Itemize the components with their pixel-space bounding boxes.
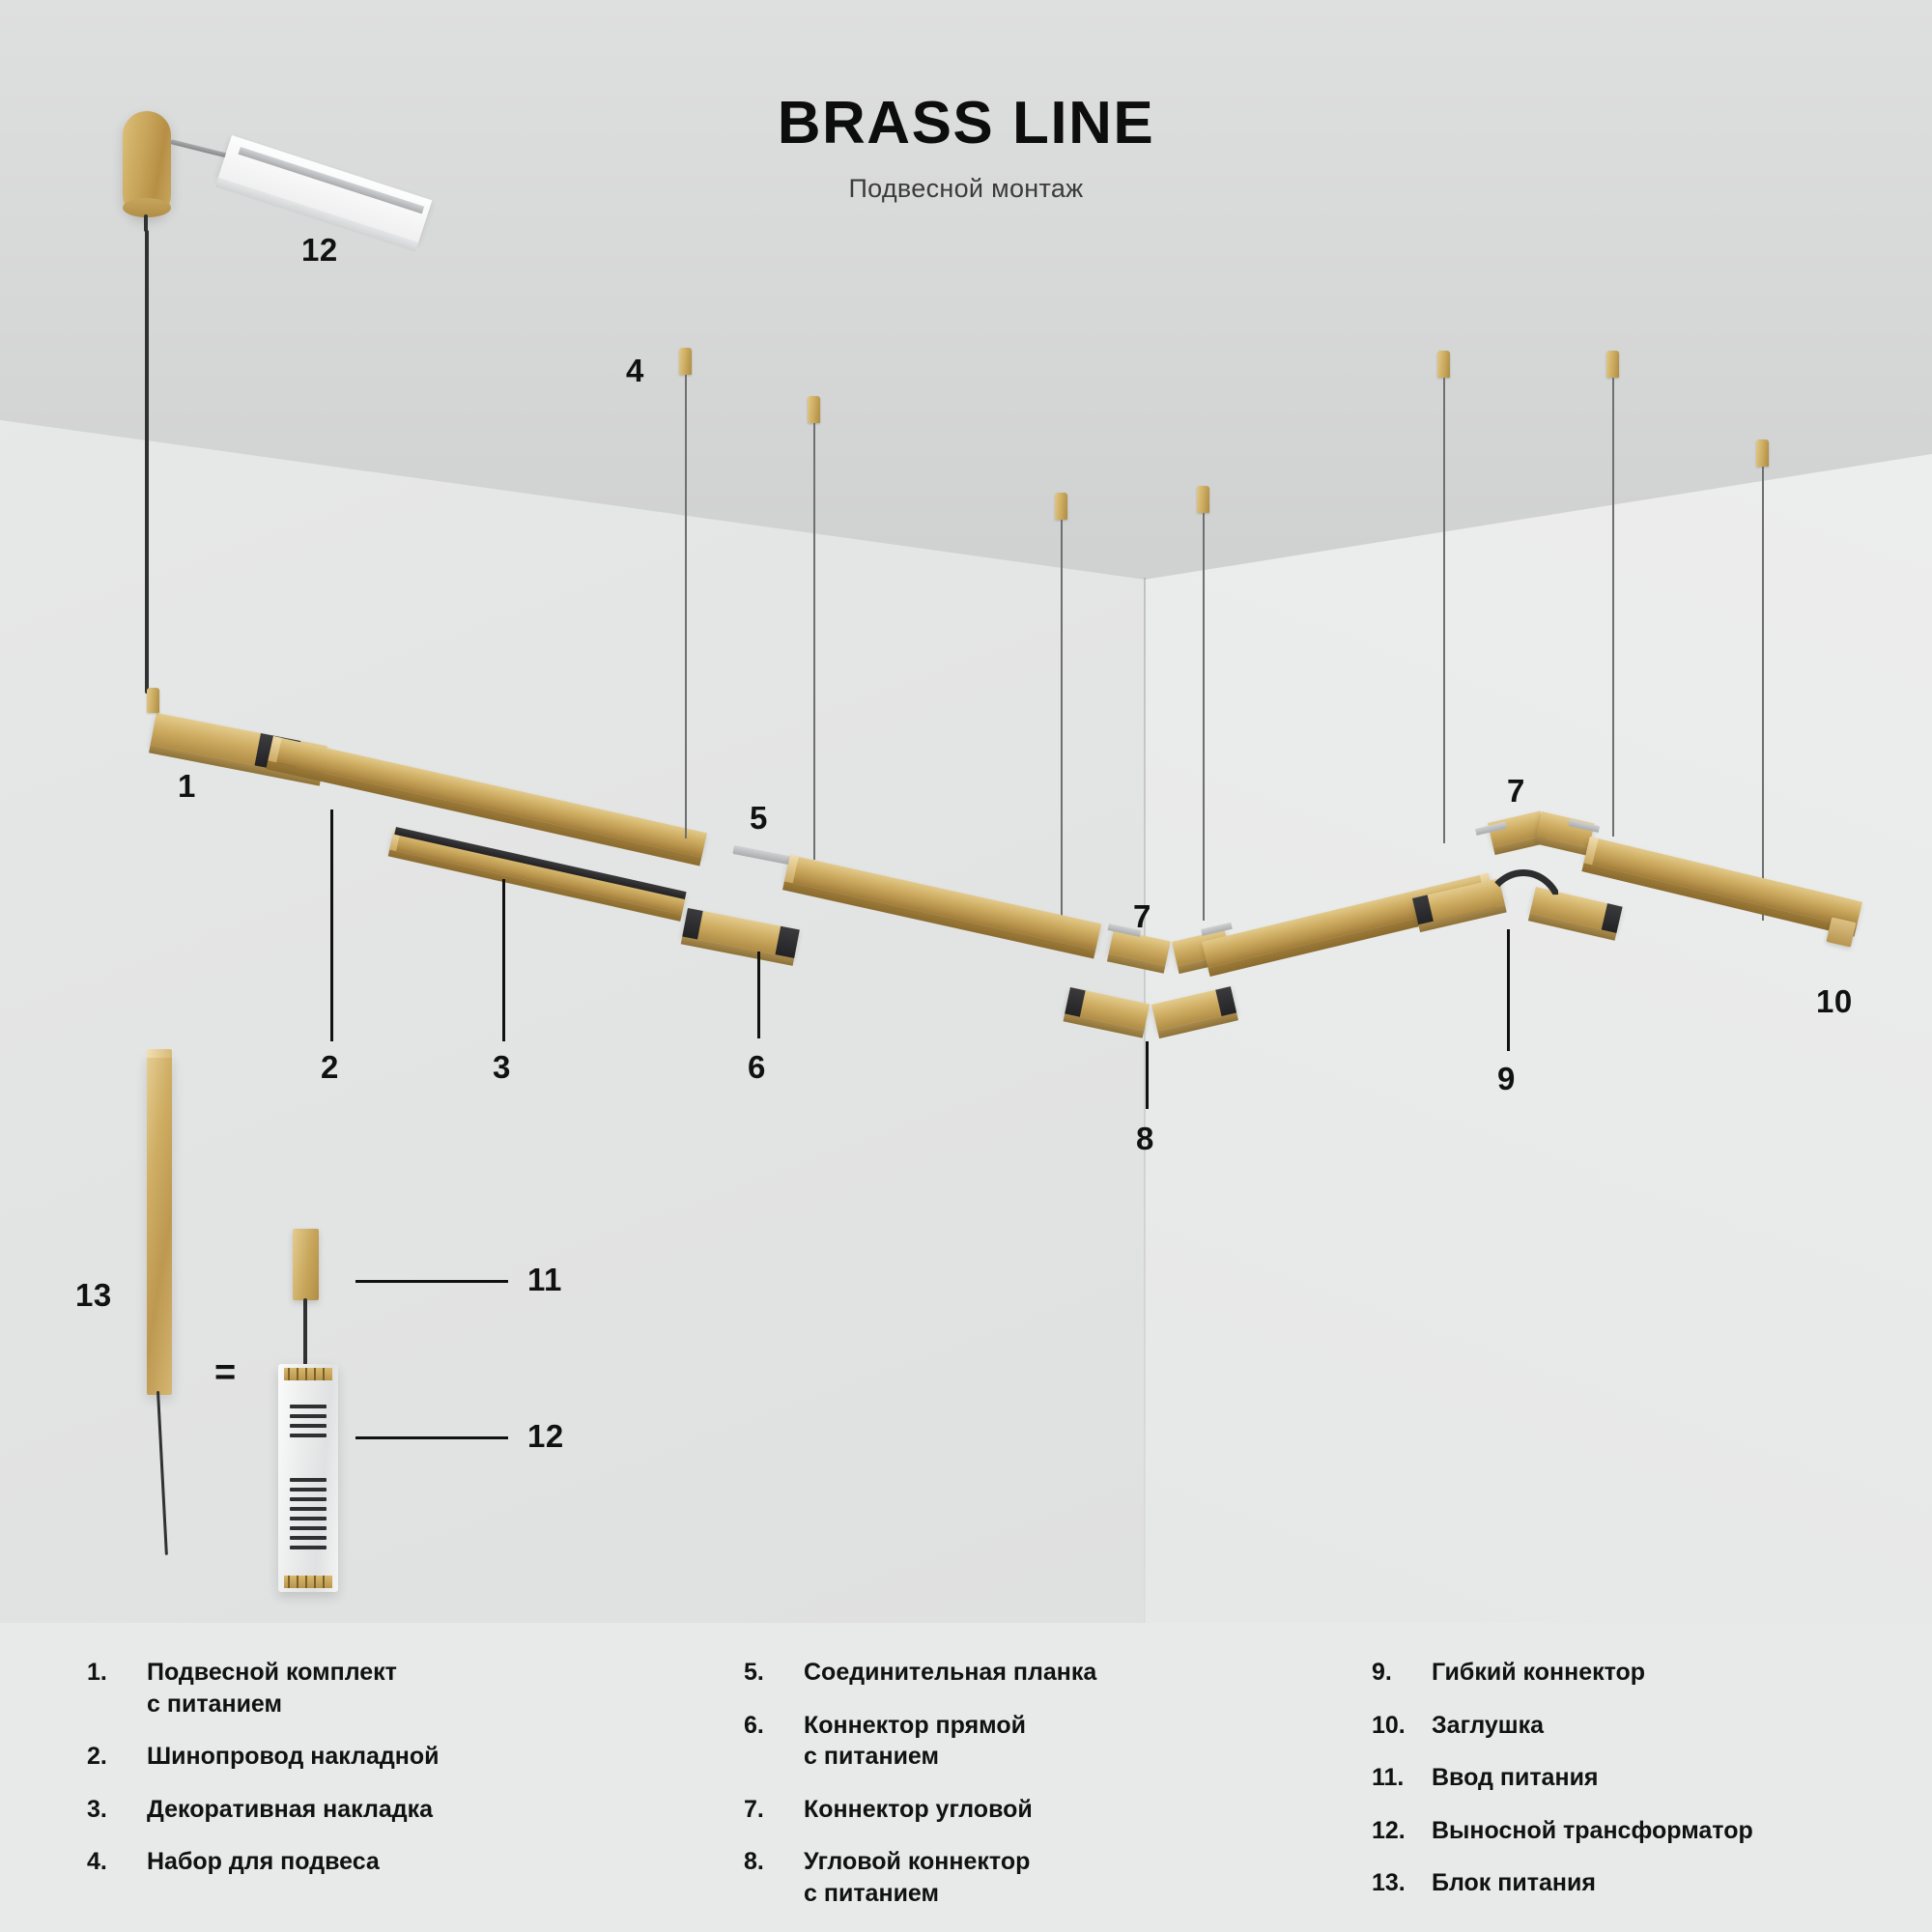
callout-13: 13 bbox=[75, 1277, 112, 1314]
product-diagram: BRASS LINE Подвесной монтаж 12 1 2 3 5 bbox=[0, 0, 1932, 1932]
legend-label: Шинопровод накладной bbox=[147, 1741, 440, 1773]
legend-label: Набор для подвеса bbox=[147, 1846, 380, 1878]
legend-label: Блок питания bbox=[1432, 1867, 1596, 1899]
legend-index: 8. bbox=[744, 1846, 804, 1878]
leader-line-9 bbox=[1507, 929, 1510, 1051]
suspension-cup-b bbox=[808, 396, 820, 423]
callout-7-left: 7 bbox=[1133, 898, 1151, 935]
callout-6: 6 bbox=[748, 1049, 766, 1086]
legend-index: 11. bbox=[1372, 1762, 1432, 1794]
callout-1: 1 bbox=[178, 768, 196, 805]
legend-label: Угловой коннектор с питанием bbox=[804, 1846, 1030, 1909]
suspension-cup-e bbox=[1437, 351, 1450, 378]
pendant-drop-cable bbox=[145, 230, 149, 694]
legend-label: Заглушка bbox=[1432, 1710, 1544, 1742]
suspension-wire-b bbox=[813, 423, 815, 860]
legend-index: 10. bbox=[1372, 1710, 1432, 1742]
suspension-wire-g bbox=[1762, 467, 1764, 921]
psu-terminal-pins-top bbox=[284, 1368, 332, 1380]
legend-index: 13. bbox=[1372, 1867, 1432, 1899]
legend-index: 1. bbox=[87, 1657, 147, 1689]
legend-item: 13. Блок питания bbox=[1372, 1867, 1893, 1899]
leader-line-12 bbox=[355, 1436, 508, 1439]
callout-10: 10 bbox=[1816, 983, 1853, 1020]
suspension-cup-f bbox=[1606, 351, 1619, 378]
suspension-cup-g bbox=[1756, 440, 1769, 467]
leader-line-11 bbox=[355, 1280, 508, 1283]
legend-index: 9. bbox=[1372, 1657, 1432, 1689]
leader-line-8 bbox=[1146, 1041, 1149, 1109]
callout-8: 8 bbox=[1136, 1121, 1154, 1157]
legend-label: Ввод питания bbox=[1432, 1762, 1599, 1794]
psu-terminal-pins-bottom bbox=[284, 1576, 332, 1588]
remote-transformer bbox=[278, 1364, 338, 1592]
legend-index: 12. bbox=[1372, 1815, 1432, 1847]
legend-index: 5. bbox=[744, 1657, 804, 1689]
legend: 1. Подвесной комплект с питанием 2. Шино… bbox=[0, 1626, 1932, 1932]
legend-label: Соединительная планка bbox=[804, 1657, 1096, 1689]
legend-index: 3. bbox=[87, 1794, 147, 1826]
page-subtitle: Подвесной монтаж bbox=[599, 174, 1333, 204]
callout-11-bottom: 11 bbox=[527, 1262, 562, 1298]
legend-label: Коннектор прямой с питанием bbox=[804, 1710, 1026, 1773]
page-title: BRASS LINE bbox=[599, 92, 1333, 155]
callout-5: 5 bbox=[750, 800, 768, 837]
callout-12-top: 12 bbox=[301, 232, 338, 269]
legend-label: Гибкий коннектор bbox=[1432, 1657, 1645, 1689]
legend-item: 11. Ввод питания bbox=[1372, 1762, 1893, 1794]
legend-item: 5. Соединительная планка bbox=[744, 1657, 1150, 1689]
suspension-wire-d bbox=[1203, 513, 1205, 921]
callout-7-right: 7 bbox=[1507, 773, 1525, 810]
legend-index: 6. bbox=[744, 1710, 804, 1742]
legend-item: 10. Заглушка bbox=[1372, 1710, 1893, 1742]
legend-column-1: 1. Подвесной комплект с питанием 2. Шино… bbox=[87, 1657, 551, 1899]
power-supply-bar-cap bbox=[147, 1049, 172, 1058]
callout-12-bottom: 12 bbox=[527, 1418, 564, 1455]
leader-line-6 bbox=[757, 952, 760, 1038]
legend-item: 8. Угловой коннектор с питанием bbox=[744, 1846, 1150, 1909]
legend-index: 4. bbox=[87, 1846, 147, 1878]
legend-item: 3. Декоративная накладка bbox=[87, 1794, 551, 1826]
suspension-wire-c bbox=[1061, 520, 1063, 935]
suspension-cup-item1 bbox=[147, 688, 159, 713]
power-input-block bbox=[293, 1229, 319, 1300]
callout-3: 3 bbox=[493, 1049, 511, 1086]
suspension-cup-a bbox=[679, 348, 692, 375]
suspension-wire-a bbox=[685, 375, 687, 838]
legend-column-2: 5. Соединительная планка 6. Коннектор пр… bbox=[744, 1657, 1150, 1930]
callout-2: 2 bbox=[321, 1049, 339, 1086]
suspension-cup-d bbox=[1197, 486, 1209, 513]
leader-line-3 bbox=[502, 879, 505, 1041]
legend-label: Выносной трансформатор bbox=[1432, 1815, 1753, 1847]
legend-item: 7. Коннектор угловой bbox=[744, 1794, 1150, 1826]
legend-label: Подвесной комплект с питанием bbox=[147, 1657, 397, 1719]
equals-sign: = bbox=[214, 1352, 236, 1394]
legend-item: 2. Шинопровод накладной bbox=[87, 1741, 551, 1773]
header: BRASS LINE Подвесной монтаж bbox=[599, 92, 1333, 204]
legend-label: Коннектор угловой bbox=[804, 1794, 1033, 1826]
power-supply-bar bbox=[147, 1055, 172, 1395]
legend-index: 2. bbox=[87, 1741, 147, 1773]
power-input-cable bbox=[303, 1298, 307, 1368]
suspension-wire-f bbox=[1612, 378, 1614, 837]
legend-item: 9. Гибкий коннектор bbox=[1372, 1657, 1893, 1689]
leader-line-2 bbox=[330, 810, 333, 1041]
legend-label: Декоративная накладка bbox=[147, 1794, 433, 1826]
legend-item: 6. Коннектор прямой с питанием bbox=[744, 1710, 1150, 1773]
legend-item: 4. Набор для подвеса bbox=[87, 1846, 551, 1878]
legend-item: 1. Подвесной комплект с питанием bbox=[87, 1657, 551, 1719]
callout-4: 4 bbox=[626, 353, 644, 389]
legend-index: 7. bbox=[744, 1794, 804, 1826]
suspension-cup-c bbox=[1055, 493, 1067, 520]
callout-9: 9 bbox=[1497, 1061, 1516, 1097]
legend-column-3: 9. Гибкий коннектор 10. Заглушка 11. Вво… bbox=[1372, 1657, 1893, 1920]
legend-item: 12. Выносной трансформатор bbox=[1372, 1815, 1893, 1847]
suspension-wire-e bbox=[1443, 378, 1445, 843]
